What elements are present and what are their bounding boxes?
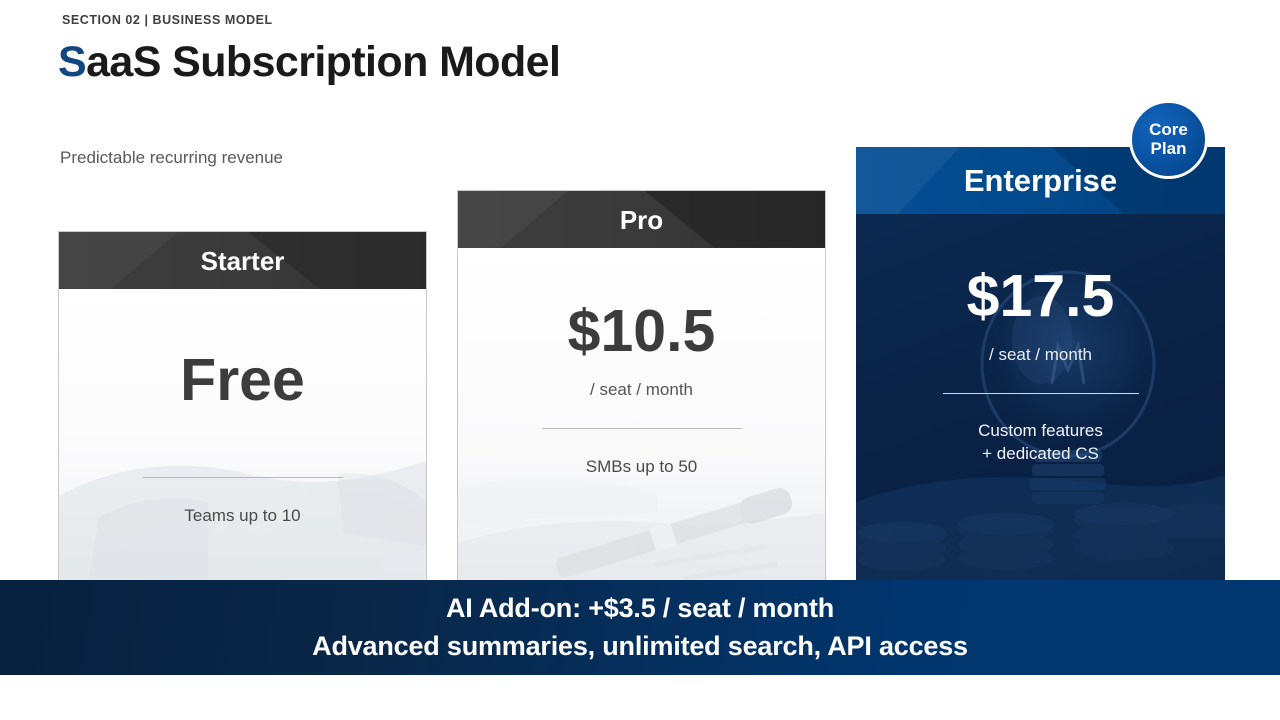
- price-pro: $10.5: [458, 302, 825, 361]
- note-pro: SMBs up to 50: [458, 456, 825, 479]
- ai-addon-banner: AI Add-on: +$3.5 / seat / month Advanced…: [0, 580, 1280, 675]
- banner-line-1: AI Add-on: +$3.5 / seat / month: [446, 590, 834, 627]
- plan-name-starter: Starter: [201, 248, 285, 274]
- page-title: SaaS Subscription Model: [58, 38, 560, 87]
- card-body-pro: $10.5 / seat / month SMBs up to 50: [458, 248, 825, 583]
- divider-starter: [143, 477, 343, 478]
- note-enterprise-line1: Custom features: [856, 420, 1225, 443]
- card-body-enterprise: $17.5 / seat / month Custom features + d…: [856, 214, 1225, 583]
- core-plan-badge-line2: Plan: [1151, 140, 1187, 158]
- pricing-card-starter[interactable]: Starter: [58, 231, 427, 583]
- pricing-card-pro[interactable]: Pro: [457, 190, 826, 583]
- note-enterprise-line2: + dedicated CS: [856, 443, 1225, 466]
- divider-pro: [542, 428, 742, 429]
- core-plan-badge-line1: Core: [1149, 121, 1188, 139]
- price-period-enterprise: / seat / month: [856, 346, 1225, 363]
- plan-name-enterprise: Enterprise: [964, 165, 1117, 196]
- subtitle: Predictable recurring revenue: [60, 148, 283, 168]
- plan-name-pro: Pro: [620, 207, 663, 233]
- pricing-card-enterprise[interactable]: Enterprise: [856, 147, 1225, 583]
- price-period-pro: / seat / month: [458, 381, 825, 398]
- page-title-rest: aaS Subscription Model: [86, 38, 560, 86]
- card-header-starter: Starter: [59, 232, 426, 289]
- banner-line-2: Advanced summaries, unlimited search, AP…: [312, 628, 968, 665]
- divider-enterprise: [943, 393, 1139, 394]
- section-label: SECTION 02 | BUSINESS MODEL: [62, 13, 273, 27]
- page-title-accent-letter: S: [58, 38, 86, 86]
- core-plan-badge[interactable]: Core Plan: [1129, 100, 1208, 179]
- note-starter: Teams up to 10: [59, 505, 426, 528]
- card-header-pro: Pro: [458, 191, 825, 248]
- card-body-starter: Free Teams up to 10: [59, 289, 426, 583]
- price-enterprise: $17.5: [856, 267, 1225, 326]
- price-starter: Free: [59, 351, 426, 410]
